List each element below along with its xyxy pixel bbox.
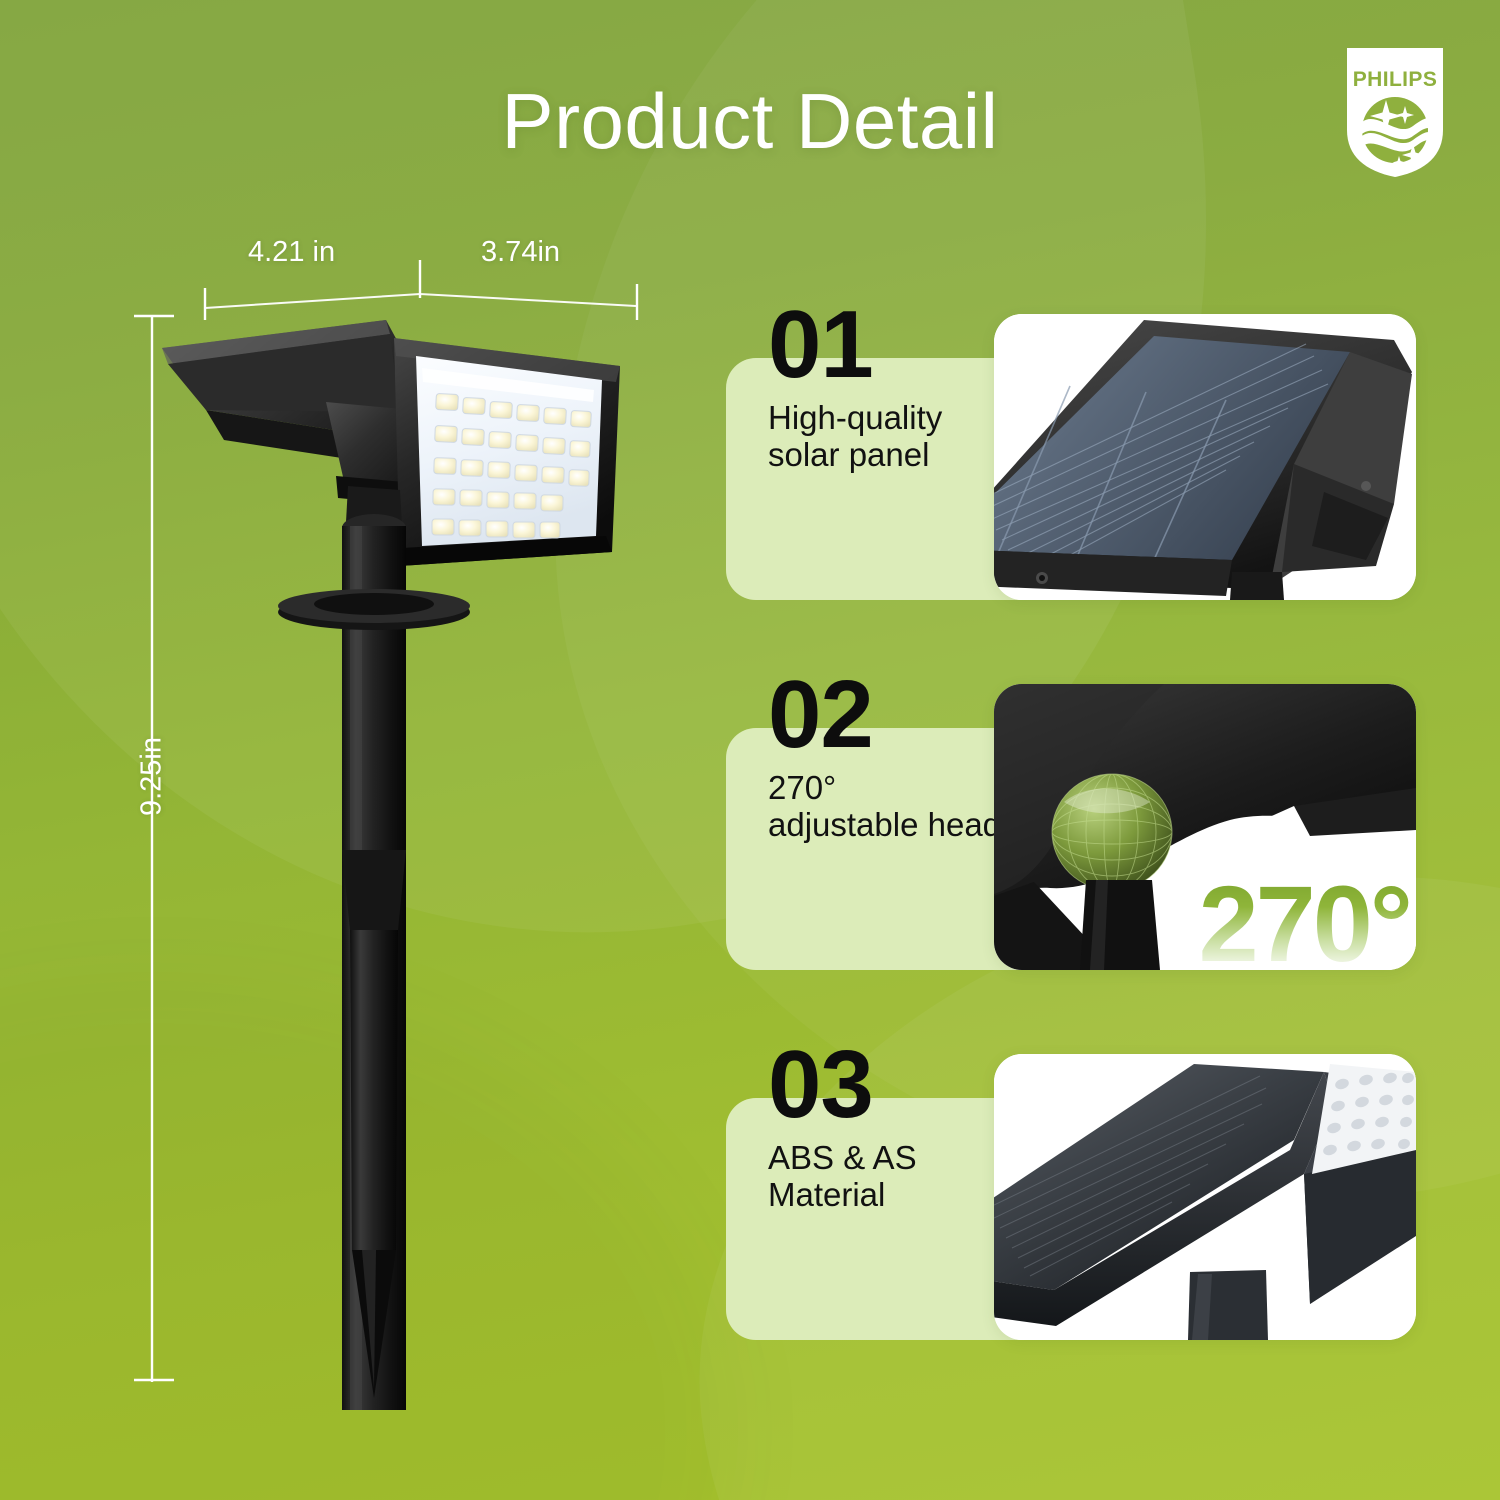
feature-text-03: 03 ABS & AS Material <box>768 1040 1018 1214</box>
feature-label-01-line1: High-quality <box>768 400 1018 437</box>
philips-wordmark: PHILIPS <box>1353 68 1437 91</box>
solar-panel-closeup-image <box>994 314 1416 600</box>
product-image-solar-spot-light <box>150 290 670 1410</box>
feature-text-02: 02 270° adjustable head <box>768 670 1018 844</box>
feature-image-card-02: 270° <box>994 684 1416 970</box>
degree-overlay-text: 270° <box>1199 870 1410 970</box>
feature-image-card-03 <box>994 1054 1416 1340</box>
feature-label-02-line1: 270° <box>768 770 1018 807</box>
feature-text-01: 01 High-quality solar panel <box>768 300 1018 474</box>
feature-row-03: 03 ABS & AS Material <box>726 1040 1416 1340</box>
feature-label-03-line2: Material <box>768 1177 1018 1214</box>
feature-label-01: High-quality solar panel <box>768 400 1018 474</box>
feature-label-03: ABS & AS Material <box>768 1140 1018 1214</box>
feature-number-03: 03 <box>768 1040 1018 1130</box>
feature-number-01: 01 <box>768 300 1018 390</box>
feature-label-01-line2: solar panel <box>768 437 1018 474</box>
feature-label-02: 270° adjustable head <box>768 770 1018 844</box>
page-title: Product Detail <box>0 82 1500 160</box>
philips-logo: PHILIPS <box>1341 44 1449 180</box>
feature-image-card-01 <box>994 314 1416 600</box>
product-detail-page: Product Detail PHILIPS 4.21 in 3.74in 9.… <box>0 0 1500 1500</box>
feature-label-03-line1: ABS & AS <box>768 1140 1018 1177</box>
feature-number-02: 02 <box>768 670 1018 760</box>
feature-row-02: 02 270° adjustable head <box>726 670 1416 970</box>
ball-joint <box>1052 774 1172 890</box>
abs-as-material-closeup-image <box>994 1054 1416 1340</box>
feature-label-02-line2: adjustable head <box>768 807 1018 844</box>
feature-row-01: 01 High-quality solar panel <box>726 300 1416 600</box>
